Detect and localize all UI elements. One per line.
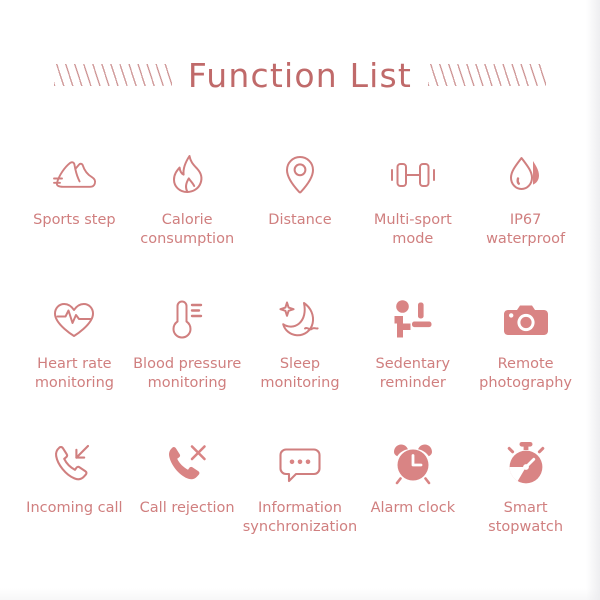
function-item-remote-photography[interactable]: Remote photography: [469, 294, 582, 393]
dumbbell-icon: [387, 150, 439, 202]
function-item-label: Smart stopwatch: [488, 499, 563, 537]
function-item-label: Sedentary reminder: [376, 355, 451, 393]
function-item-alarm-clock[interactable]: Alarm clock: [357, 438, 470, 518]
function-item-sedentary-reminder[interactable]: Sedentary reminder: [356, 294, 469, 393]
hatch-decoration-left: [54, 64, 172, 86]
function-item-smart-stopwatch[interactable]: Smart stopwatch: [469, 438, 582, 537]
moon-star-icon: [275, 294, 325, 346]
thermometer-icon: [165, 294, 209, 346]
function-item-call-rejection[interactable]: Call rejection: [131, 438, 244, 518]
function-list-page: Function List Sports step: [0, 0, 600, 600]
heart-pulse-icon: [49, 294, 99, 346]
page-title: Function List: [188, 56, 412, 95]
function-item-incoming-call[interactable]: Incoming call: [18, 438, 131, 518]
function-row: Heart rate monitoring Blood pressure mon…: [8, 294, 592, 438]
function-item-information-synchronization[interactable]: Information synchronization: [244, 438, 357, 537]
function-item-distance[interactable]: Distance: [244, 150, 357, 230]
function-item-label: IP67 waterproof: [486, 211, 565, 249]
function-item-label: Call rejection: [140, 499, 235, 518]
page-header: Function List: [0, 0, 600, 150]
function-item-label: Distance: [268, 211, 331, 230]
function-item-blood-pressure-monitoring[interactable]: Blood pressure monitoring: [131, 294, 244, 393]
function-row: Incoming call Call rejection: [8, 438, 592, 582]
running-shoe-icon: [49, 150, 99, 202]
function-item-ip67-waterproof[interactable]: IP67 waterproof: [469, 150, 582, 249]
flame-icon: [166, 150, 208, 202]
function-item-heart-rate-monitoring[interactable]: Heart rate monitoring: [18, 294, 131, 393]
function-item-sleep-monitoring[interactable]: Sleep monitoring: [244, 294, 357, 393]
hatch-decoration-right: [428, 64, 546, 86]
water-drop-icon: [504, 150, 548, 202]
seated-person-icon: [389, 294, 437, 346]
function-item-label: Heart rate monitoring: [35, 355, 114, 393]
function-item-label: Information synchronization: [243, 499, 358, 537]
function-item-label: Sleep monitoring: [260, 355, 339, 393]
function-item-label: Alarm clock: [371, 499, 456, 518]
function-item-label: Multi-sport mode: [374, 211, 452, 249]
function-item-label: Calorie consumption: [140, 211, 234, 249]
speech-bubble-icon: [276, 438, 324, 490]
function-item-label: Blood pressure monitoring: [133, 355, 241, 393]
function-item-label: Incoming call: [26, 499, 122, 518]
stopwatch-icon: [503, 438, 549, 490]
location-pin-icon: [280, 150, 320, 202]
function-item-label: Remote photography: [479, 355, 572, 393]
function-item-multi-sport-mode[interactable]: Multi-sport mode: [356, 150, 469, 249]
function-row: Sports step Calorie consumption: [8, 150, 592, 294]
function-item-calorie-consumption[interactable]: Calorie consumption: [131, 150, 244, 249]
phone-reject-icon: [163, 438, 211, 490]
alarm-clock-icon: [390, 438, 436, 490]
camera-icon: [502, 294, 550, 346]
function-item-sports-step[interactable]: Sports step: [18, 150, 131, 230]
function-item-label: Sports step: [33, 211, 115, 230]
phone-incoming-icon: [50, 438, 98, 490]
function-grid: Sports step Calorie consumption: [0, 150, 600, 600]
